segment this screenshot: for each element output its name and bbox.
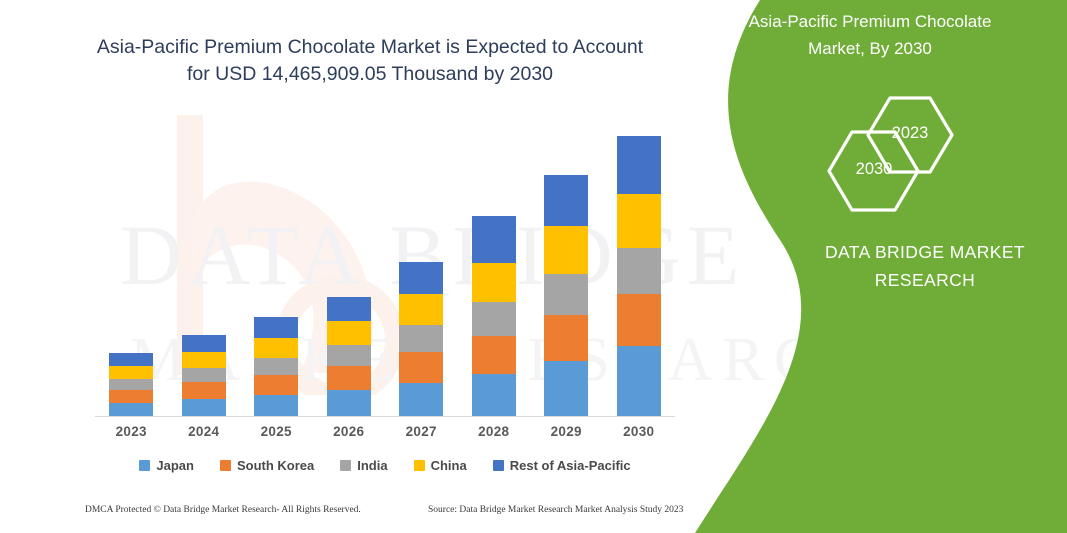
legend-label: Rest of Asia-Pacific <box>510 458 631 473</box>
legend-label: China <box>431 458 467 473</box>
legend-item-india: India <box>340 458 387 473</box>
legend-label: Japan <box>156 458 194 473</box>
panel-title-line1: Asia-Pacific Premium Chocolate <box>700 8 1040 35</box>
x-tick-2028: 2028 <box>464 424 524 439</box>
bar-segment-rest-of-asia-pacific-2027 <box>399 262 443 294</box>
legend-item-rest-of-asia-pacific: Rest of Asia-Pacific <box>493 458 631 473</box>
bar-segment-rest-of-asia-pacific-2028 <box>472 216 516 263</box>
bar-segment-china-2024 <box>182 352 226 368</box>
bar-segment-india-2027 <box>399 325 443 352</box>
bar-column-2027 <box>399 262 443 417</box>
bar-segment-india-2028 <box>472 302 516 336</box>
bar-segment-india-2023 <box>109 379 153 390</box>
x-axis-tick-labels: 20232024202520262027202820292030 <box>95 424 675 446</box>
legend-swatch-icon <box>139 460 150 471</box>
bar-segment-rest-of-asia-pacific-2026 <box>327 297 371 321</box>
bar-segment-india-2025 <box>254 358 298 375</box>
x-tick-2024: 2024 <box>174 424 234 439</box>
bar-segment-china-2026 <box>327 321 371 345</box>
brand-line1: DATA BRIDGE MARKET <box>760 238 1067 266</box>
infographic-canvas: DATA BRIDGE MARKET RESEARCH Asia-Pacific… <box>0 0 1067 533</box>
bar-segment-south-korea-2025 <box>254 375 298 395</box>
legend-item-china: China <box>414 458 467 473</box>
panel-title-line2: Market, By 2030 <box>700 35 1040 62</box>
legend-swatch-icon <box>493 460 504 471</box>
x-tick-2027: 2027 <box>391 424 451 439</box>
x-tick-2025: 2025 <box>246 424 306 439</box>
legend-swatch-icon <box>414 460 425 471</box>
bar-segment-india-2026 <box>327 345 371 366</box>
legend-item-south-korea: South Korea <box>220 458 314 473</box>
panel-title: Asia-Pacific Premium Chocolate Market, B… <box>700 8 1040 62</box>
bar-column-2025 <box>254 317 298 417</box>
bar-column-2024 <box>182 335 226 417</box>
legend-label: South Korea <box>237 458 314 473</box>
bar-segment-japan-2026 <box>327 390 371 417</box>
hexagon-large-label: 2030 <box>852 160 896 179</box>
bar-segment-china-2027 <box>399 294 443 325</box>
legend-swatch-icon <box>340 460 351 471</box>
hexagon-small-label: 2023 <box>888 124 932 143</box>
bar-segment-china-2023 <box>109 366 153 379</box>
bar-segment-south-korea-2026 <box>327 366 371 390</box>
bar-segment-rest-of-asia-pacific-2024 <box>182 335 226 352</box>
legend-label: India <box>357 458 387 473</box>
hexagon-shapes-icon <box>810 85 1010 215</box>
footer: DMCA Protected © Data Bridge Market Rese… <box>0 505 700 525</box>
bar-segment-japan-2027 <box>399 383 443 417</box>
bar-segment-rest-of-asia-pacific-2023 <box>109 353 153 366</box>
hexagon-group: 2023 2030 <box>810 85 1010 215</box>
bar-column-2028 <box>472 216 516 417</box>
bar-segment-south-korea-2028 <box>472 336 516 374</box>
bar-column-2026 <box>327 297 371 417</box>
chart-legend: JapanSouth KoreaIndiaChinaRest of Asia-P… <box>95 454 675 476</box>
bar-segment-south-korea-2029 <box>544 315 588 361</box>
page-title: Asia-Pacific Premium Chocolate Market is… <box>60 34 680 88</box>
brand-line2: RESEARCH <box>760 266 1067 294</box>
x-tick-2023: 2023 <box>101 424 161 439</box>
chart-title-line1: Asia-Pacific Premium Chocolate Market is… <box>60 34 680 61</box>
x-tick-2029: 2029 <box>536 424 596 439</box>
stacked-bar-chart <box>95 120 675 417</box>
x-axis-line <box>95 416 675 417</box>
chart-title-line2: for USD 14,465,909.05 Thousand by 2030 <box>60 61 680 88</box>
x-tick-2026: 2026 <box>319 424 379 439</box>
bar-segment-china-2029 <box>544 226 588 274</box>
bar-column-2029 <box>544 175 588 417</box>
legend-swatch-icon <box>220 460 231 471</box>
legend-item-japan: Japan <box>139 458 194 473</box>
bar-segment-japan-2029 <box>544 361 588 417</box>
bar-segment-japan-2024 <box>182 399 226 417</box>
brand-name: DATA BRIDGE MARKET RESEARCH <box>760 238 1067 294</box>
bar-segment-china-2028 <box>472 263 516 302</box>
bar-segment-japan-2023 <box>109 403 153 417</box>
bar-segment-india-2029 <box>544 274 588 315</box>
bar-segment-rest-of-asia-pacific-2029 <box>544 175 588 226</box>
bar-segment-india-2024 <box>182 368 226 382</box>
bar-segment-south-korea-2024 <box>182 382 226 399</box>
footer-copyright: DMCA Protected © Data Bridge Market Rese… <box>85 505 361 515</box>
bar-segment-japan-2025 <box>254 395 298 417</box>
bar-segment-china-2025 <box>254 338 298 358</box>
bar-segment-south-korea-2023 <box>109 390 153 403</box>
bar-column-2023 <box>109 353 153 417</box>
bar-segment-south-korea-2027 <box>399 352 443 383</box>
bar-segment-japan-2028 <box>472 374 516 417</box>
bar-segment-rest-of-asia-pacific-2025 <box>254 317 298 338</box>
